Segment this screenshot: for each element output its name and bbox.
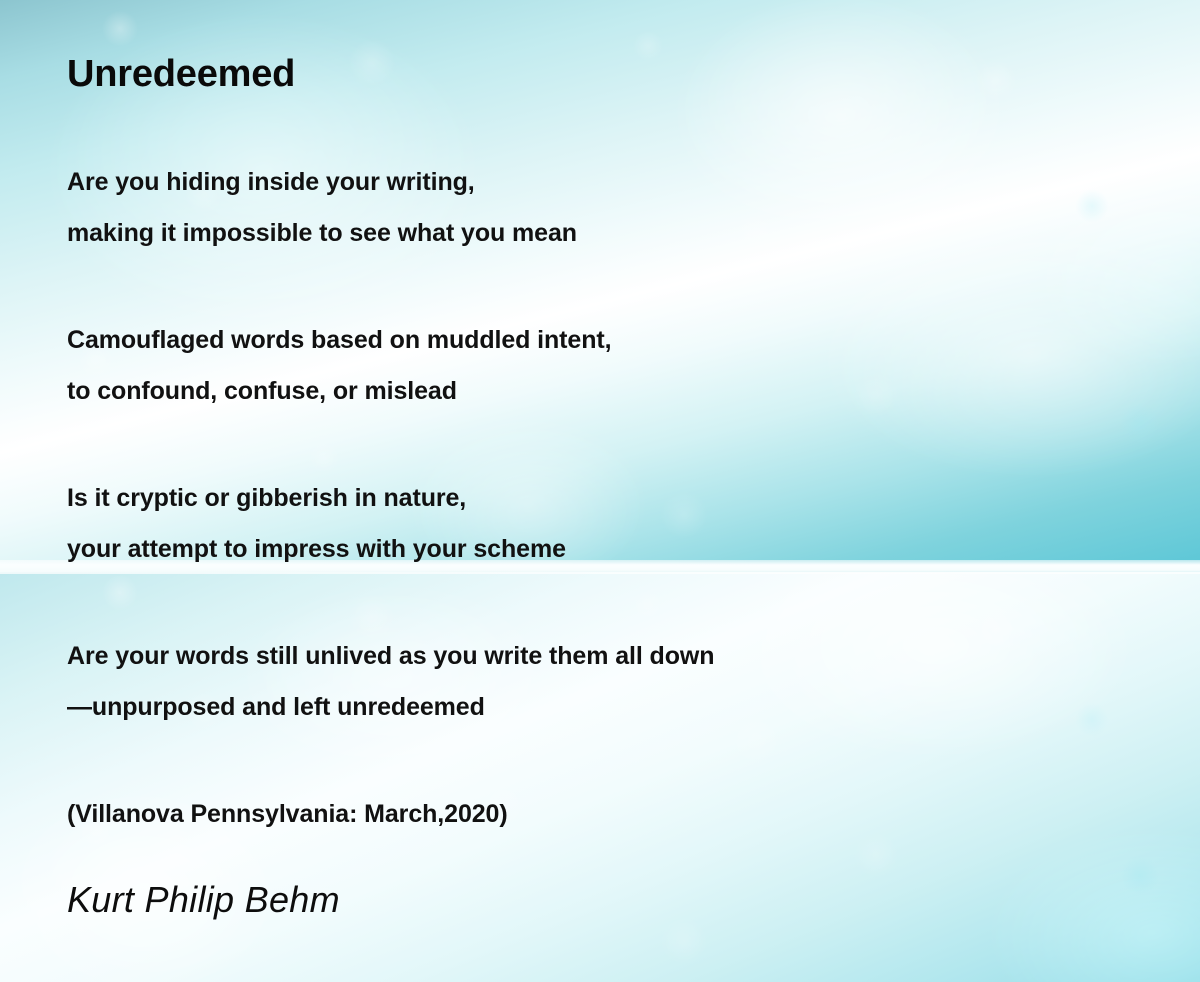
stanza-2: Camouflaged words based on muddled inten… (67, 315, 1180, 417)
poem-line: your attempt to impress with your scheme (67, 524, 1180, 575)
poem-line: Is it cryptic or gibberish in nature, (67, 473, 1180, 524)
poem-line: Are you hiding inside your writing, (67, 157, 1180, 208)
poem-line: —unpurposed and left unredeemed (67, 682, 1180, 733)
poem-body: Are you hiding inside your writing, maki… (67, 157, 1180, 896)
poem-line: Camouflaged words based on muddled inten… (67, 315, 1180, 366)
poem-line: Are your words still unlived as you writ… (67, 631, 1180, 682)
poem-attribution-block: (Villanova Pennsylvania: March,2020) (67, 789, 1180, 840)
stanza-3: Is it cryptic or gibberish in nature, yo… (67, 473, 1180, 575)
poem-line: to confound, confuse, or mislead (67, 366, 1180, 417)
poem-attribution: (Villanova Pennsylvania: March,2020) (67, 789, 1180, 840)
poem-author-signature: Kurt Philip Behm (67, 880, 340, 920)
stanza-1: Are you hiding inside your writing, maki… (67, 157, 1180, 259)
poem-image-card: Unredeemed Are you hiding inside your wr… (0, 0, 1200, 982)
poem-text-layer: Unredeemed Are you hiding inside your wr… (0, 0, 1200, 982)
poem-title: Unredeemed (67, 54, 295, 96)
poem-line: making it impossible to see what you mea… (67, 208, 1180, 259)
stanza-4: Are your words still unlived as you writ… (67, 631, 1180, 733)
